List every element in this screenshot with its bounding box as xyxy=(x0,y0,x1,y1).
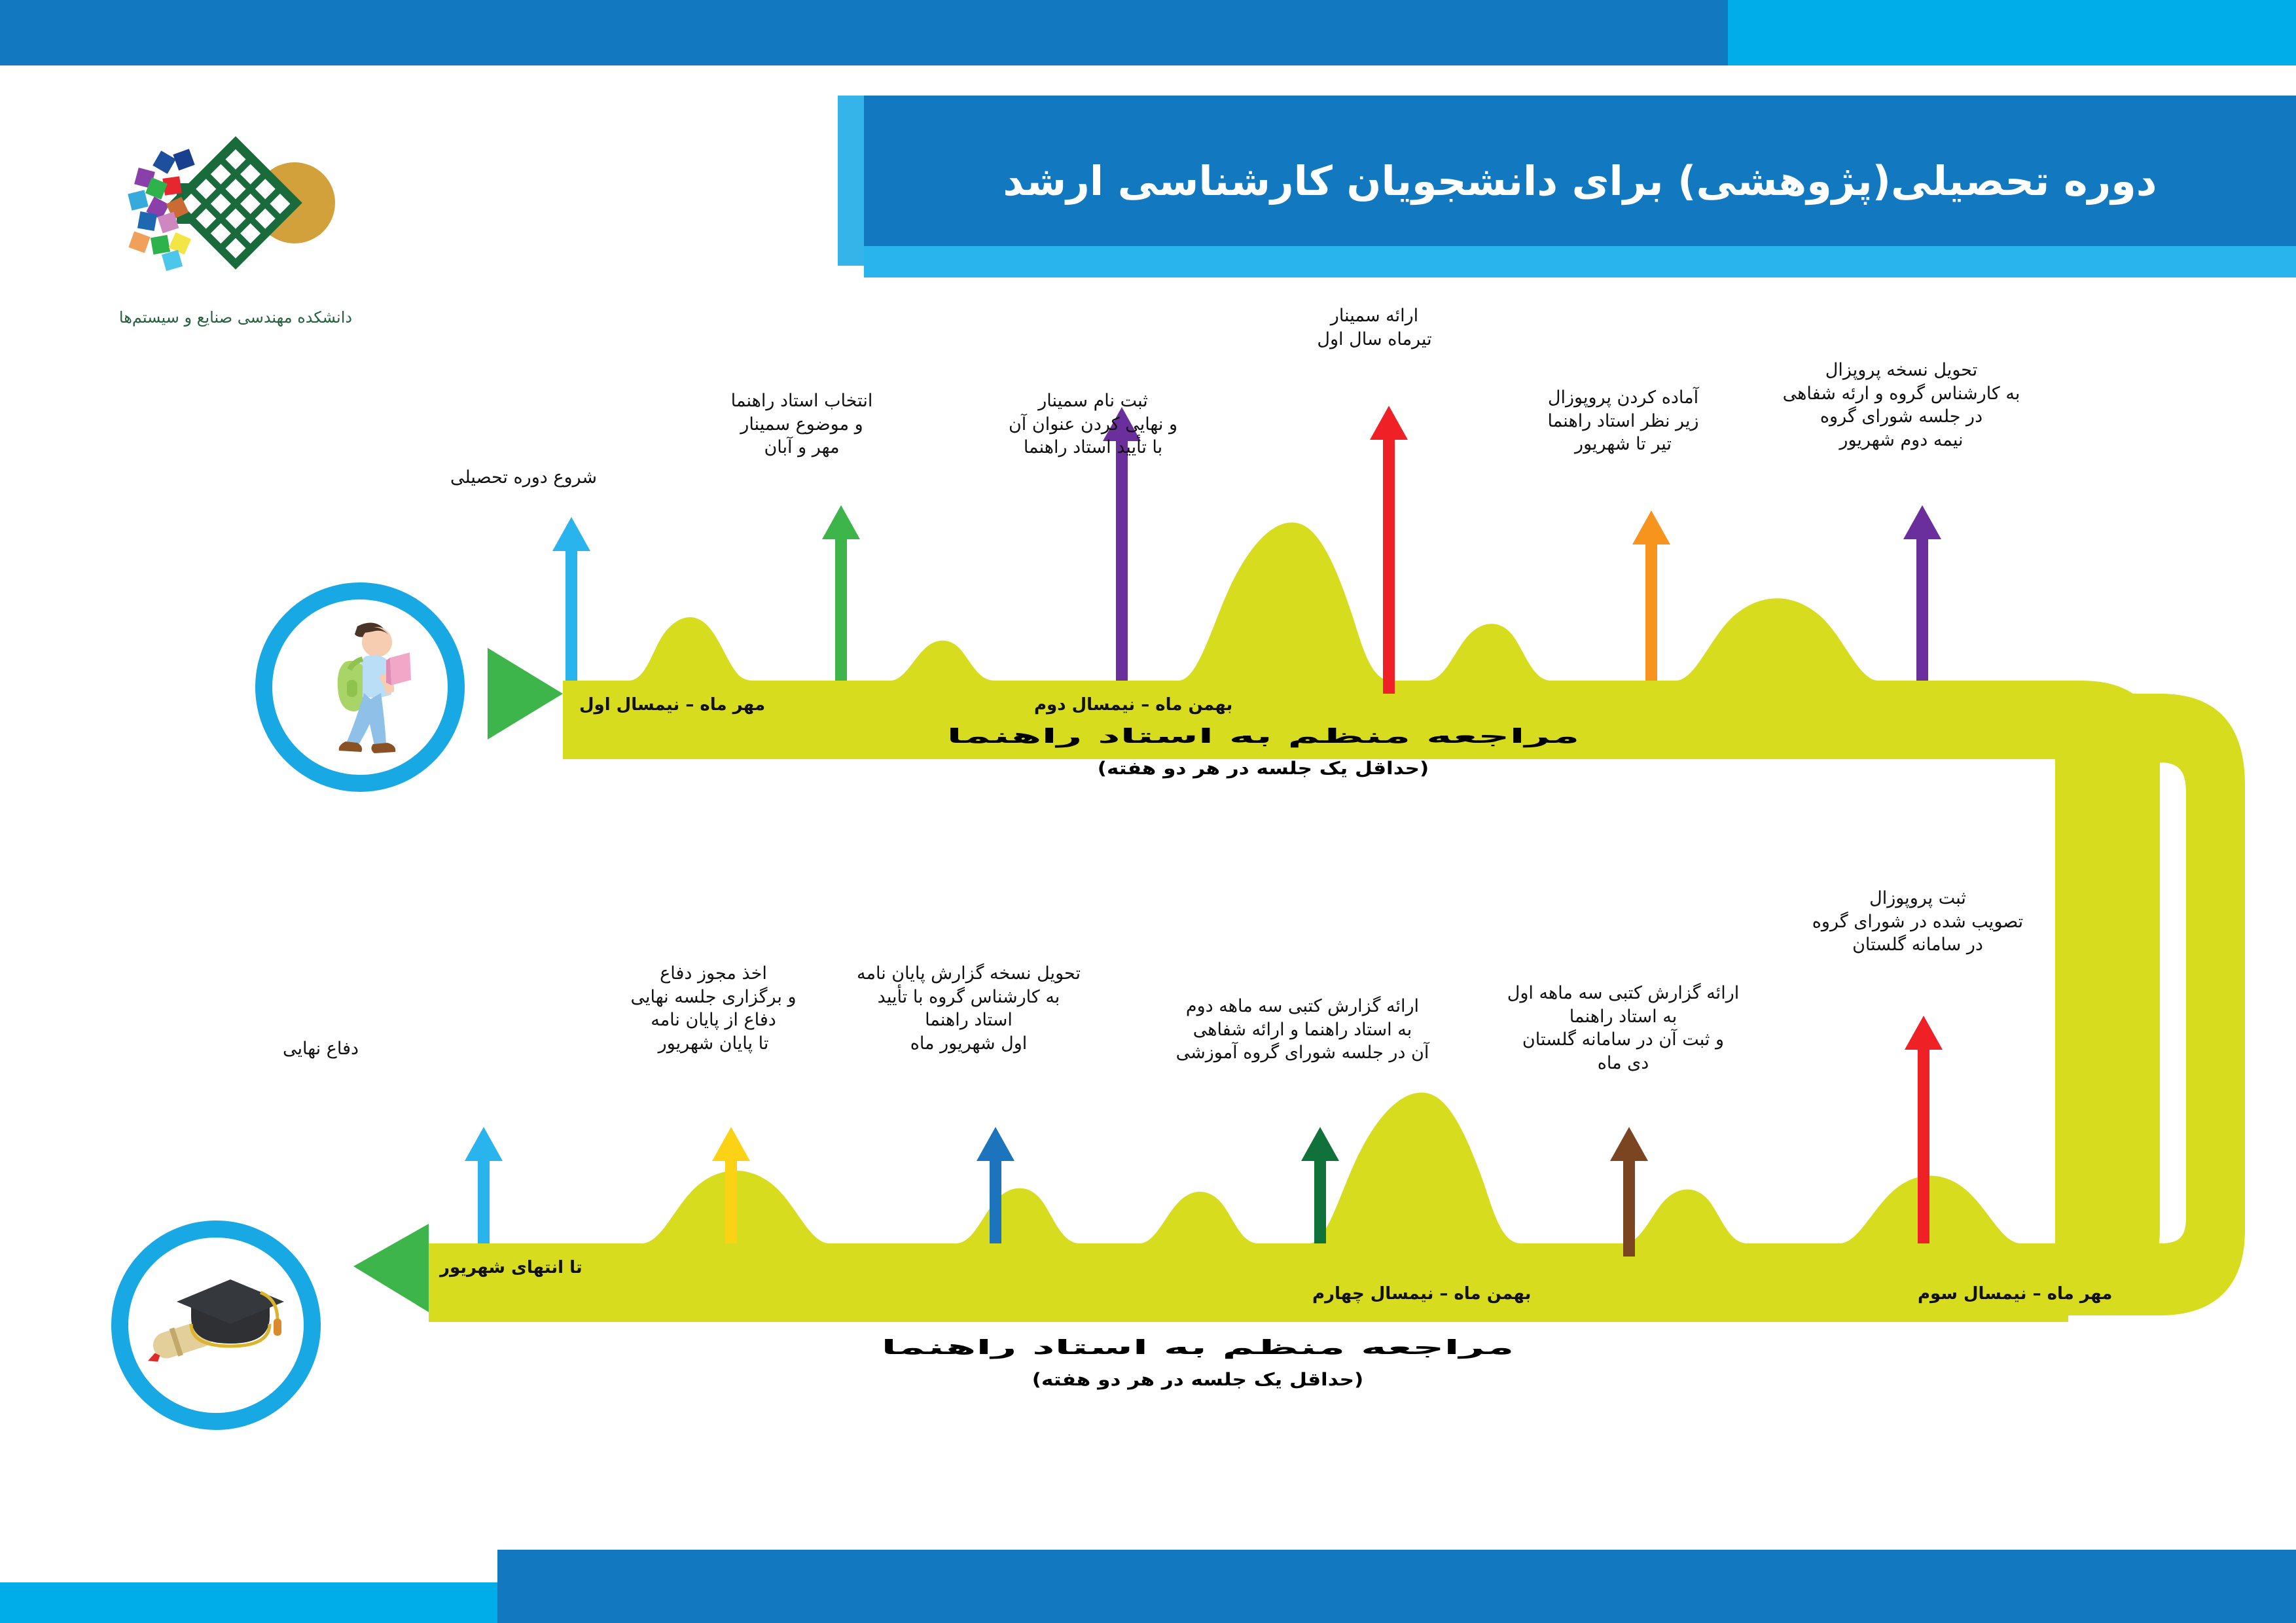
callout-start-of-study: شروع دوره تحصیلی xyxy=(412,466,635,490)
callout-defense-permit: اخذ مجوز دفاع و برگزاری جلسه نهایی دفاع … xyxy=(589,962,838,1056)
top-semester-1: مهر ماه – نیمسال اول xyxy=(579,695,765,715)
arrow-deliver-thesis-report xyxy=(977,1127,1014,1243)
page-title: دوره تحصیلی(پژوهشی) برای دانشجویان کارشن… xyxy=(864,96,2296,266)
bottom-semester-3: مهر ماه – نیمسال سوم xyxy=(1918,1284,2112,1304)
bottom-regular-visits-main: مراجعه منظم به استاد راهنما xyxy=(94,1336,2296,1359)
top-regular-visits: مراجعه منظم به استاد راهنما (حداقل یک جل… xyxy=(707,725,1820,779)
bottom-semester-4: بهمن ماه – نیمسال چهارم xyxy=(1312,1284,1531,1304)
footer-bar-primary xyxy=(497,1550,2296,1623)
arrow-final-defense xyxy=(465,1127,503,1243)
arrow-defense-permit xyxy=(712,1127,750,1243)
top-semester-2: بهمن ماه – نیمسال دوم xyxy=(1034,695,1232,715)
title-underline-bar xyxy=(864,246,2296,277)
arrow-seminar-presentation xyxy=(1370,406,1408,694)
graduation-cap-diploma-icon xyxy=(144,1266,288,1384)
top-regular-visits-main: مراجعه منظم به استاد راهنما xyxy=(12,725,2296,748)
bottom-end-label: تا انتهای شهریور xyxy=(440,1258,583,1277)
callout-deliver-proposal: تحویل نسخه پروپزال به کارشناس گروه و ارئ… xyxy=(1761,359,2042,452)
bottom-regular-visits: مراجعه منظم به استاد راهنما (حداقل یک جل… xyxy=(707,1336,1689,1390)
title-banner: دوره تحصیلی(پژوهشی) برای دانشجویان کارشن… xyxy=(864,96,2296,266)
arrow-second-quarter-report xyxy=(1301,1127,1339,1243)
faculty-logo: دانشکده مهندسی صنایع و سیستم‌ها xyxy=(98,115,373,324)
callout-deliver-thesis-report: تحویل نسخه گزارش پایان نامه به کارشناس گ… xyxy=(831,962,1106,1056)
arrow-register-proposal xyxy=(1905,1016,1943,1243)
bottom-regular-visits-sub: (حداقل یک جلسه در هر دو هفته) xyxy=(634,1370,1763,1390)
callout-choose-supervisor: انتخاب استاد راهنما و موضوع سمینار مهر و… xyxy=(694,389,910,459)
arrow-start-of-study xyxy=(552,517,590,681)
arrow-choose-supervisor xyxy=(822,505,860,681)
header-bar-secondary xyxy=(1728,0,2296,65)
student-avatar xyxy=(255,582,465,792)
header-bar-primary xyxy=(0,0,1728,65)
callout-seminar-presentation: ارائه سمینار تیرماه سال اول xyxy=(1263,304,1486,351)
callout-register-proposal: ثبت پروپوزال تصویب شده در شورای گروه در … xyxy=(1764,887,2072,957)
top-regular-visits-sub: (حداقل یک جلسه در هر دو هفته) xyxy=(624,758,1903,779)
callout-prepare-proposal: آماده کردن پروپوزال زیر نظر استاد راهنما… xyxy=(1492,386,1754,456)
end-arrow-icon xyxy=(353,1224,429,1312)
faculty-logo-caption: دانشکده مهندسی صنایع و سیستم‌ها xyxy=(98,308,373,327)
arrow-first-quarter-report xyxy=(1610,1127,1648,1257)
faculty-logo-icon xyxy=(98,115,373,311)
callout-seminar-registration: ثبت نام سمینار و نهایی کردن عنوان آن با … xyxy=(969,389,1217,459)
callout-second-quarter-report: ارائه گزارش کتبی سه ماهه دوم به استاد را… xyxy=(1149,995,1456,1065)
callout-first-quarter-report: ارائه گزارش کتبی سه ماهه اول به استاد را… xyxy=(1469,982,1777,1075)
footer-bar-secondary xyxy=(0,1582,497,1623)
arrow-deliver-proposal xyxy=(1903,505,1941,681)
callout-final-defense: دفاع نهایی xyxy=(216,1037,425,1061)
graduate-avatar xyxy=(111,1221,321,1430)
arrow-prepare-proposal xyxy=(1632,510,1670,681)
